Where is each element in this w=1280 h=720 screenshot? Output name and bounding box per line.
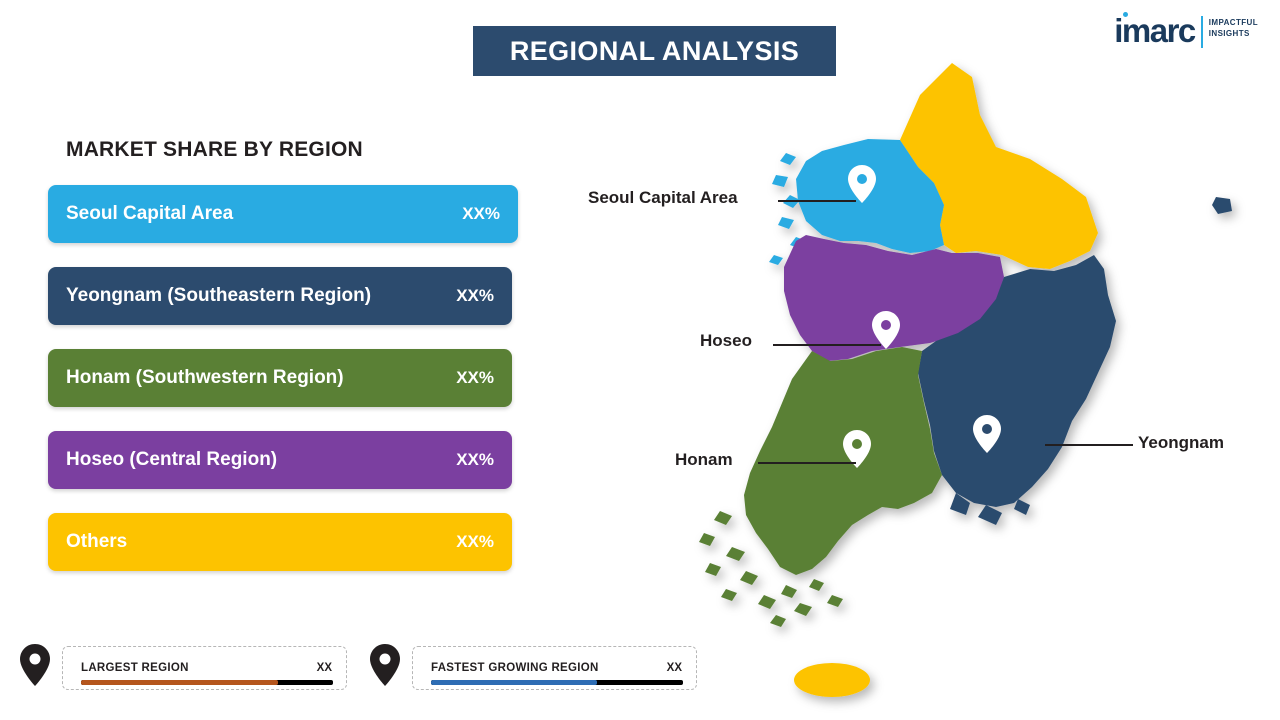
largest-region-label: LARGEST REGION	[63, 662, 317, 674]
region-name: Others	[48, 531, 127, 553]
region-share: XX%	[462, 204, 518, 224]
largest-region-bar	[81, 680, 333, 685]
logo-divider	[1201, 16, 1203, 48]
map-island-ulleungdo	[1212, 197, 1232, 214]
panel-title: MARKET SHARE BY REGION	[66, 138, 363, 162]
region-name: Seoul Capital Area	[48, 203, 233, 225]
fastest-growing-pin-icon	[370, 644, 400, 686]
list-item[interactable]: Hoseo (Central Region) XX%	[48, 431, 512, 489]
map-label-honam: Honam	[675, 450, 733, 470]
map-region-honam[interactable]	[744, 347, 942, 575]
largest-region-bar-fill	[81, 680, 278, 685]
region-share: XX%	[456, 450, 512, 470]
imarc-logo: imarc IMPACTFUL INSIGHTS	[1114, 14, 1258, 48]
map-label-yeongnam: Yeongnam	[1138, 433, 1224, 453]
list-item[interactable]: Yeongnam (Southeastern Region) XX%	[48, 267, 512, 325]
logo-tagline: IMPACTFUL INSIGHTS	[1209, 14, 1258, 40]
list-item[interactable]: Others XX%	[48, 513, 512, 571]
south-korea-map	[600, 55, 1280, 715]
largest-region-indicator: LARGEST REGION XX	[62, 646, 347, 690]
map-leader-yeongnam	[1045, 444, 1133, 446]
largest-region-pin-icon	[20, 644, 50, 686]
map-region-jeju[interactable]	[794, 663, 870, 697]
map-leader-hoseo	[773, 344, 881, 346]
map-leader-honam	[758, 462, 856, 464]
largest-region-value: XX	[317, 662, 346, 674]
region-name: Yeongnam (Southeastern Region)	[48, 285, 371, 307]
region-legend-list: Seoul Capital Area XX% Yeongnam (Southea…	[48, 185, 528, 595]
fastest-growing-bar-fill	[431, 680, 597, 685]
logo-wordmark: imarc	[1114, 14, 1195, 47]
region-share: XX%	[456, 368, 512, 388]
list-item[interactable]: Honam (Southwestern Region) XX%	[48, 349, 512, 407]
region-name: Hoseo (Central Region)	[48, 449, 277, 471]
map-label-seoul: Seoul Capital Area	[588, 188, 738, 208]
region-share: XX%	[456, 286, 512, 306]
list-item[interactable]: Seoul Capital Area XX%	[48, 185, 518, 243]
map-label-hoseo: Hoseo	[700, 331, 752, 351]
region-name: Honam (Southwestern Region)	[48, 367, 344, 389]
region-share: XX%	[456, 532, 512, 552]
map-leader-seoul	[778, 200, 856, 202]
